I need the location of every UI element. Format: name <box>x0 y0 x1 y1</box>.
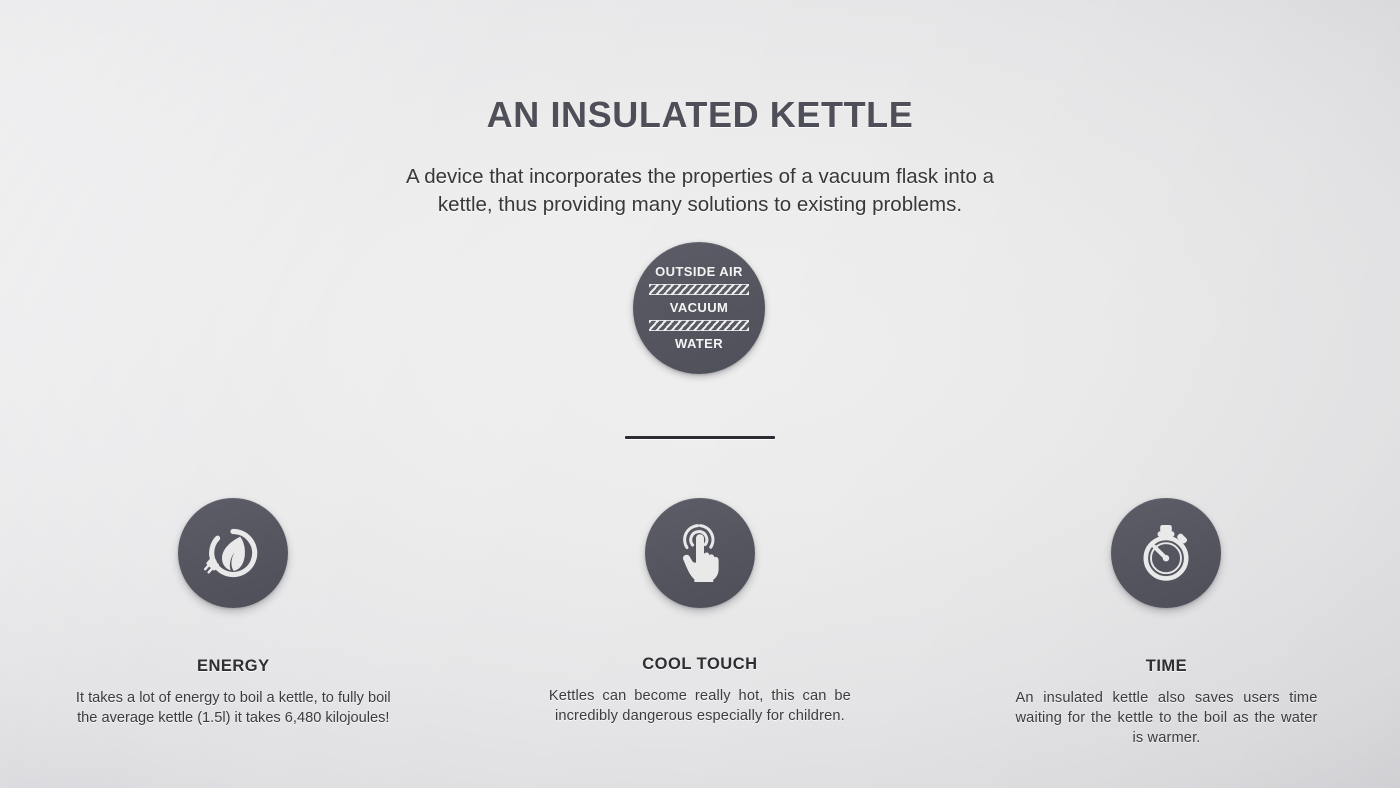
stopwatch-icon <box>1133 520 1199 586</box>
page-title: AN INSULATED KETTLE <box>0 92 1400 138</box>
cool-touch-icon-badge <box>645 498 755 608</box>
slide-canvas: AN INSULATED KETTLE A device that incorp… <box>0 0 1400 788</box>
feature-column-energy: ENERGY It takes a lot of energy to boil … <box>0 498 467 748</box>
touch-hand-icon <box>667 520 733 586</box>
section-divider <box>625 436 775 439</box>
feature-body-energy: It takes a lot of energy to boil a kettl… <box>68 688 398 728</box>
feature-column-cool-touch: COOL TOUCH Kettles can become really hot… <box>467 498 934 748</box>
vacuum-layers-circle: OUTSIDE AIR VACUUM WATER <box>633 242 765 374</box>
energy-icon-badge <box>178 498 288 608</box>
feature-column-time: TIME An insulated kettle also saves user… <box>933 498 1400 748</box>
feature-title-time: TIME <box>1146 657 1187 676</box>
vacuum-layer-label-outside-air: OUTSIDE AIR <box>655 262 743 282</box>
vacuum-layer-label-water: WATER <box>675 334 723 354</box>
feature-body-cool-touch: Kettles can become really hot, this can … <box>549 686 851 726</box>
feature-columns: ENERGY It takes a lot of energy to boil … <box>0 498 1400 748</box>
vacuum-layer-label-vacuum: VACUUM <box>670 298 729 318</box>
time-icon-badge <box>1111 498 1221 608</box>
energy-leaf-plug-icon <box>199 519 267 587</box>
feature-title-energy: ENERGY <box>197 657 270 676</box>
hatch-band-upper <box>649 284 749 295</box>
feature-body-time: An insulated kettle also saves users tim… <box>1015 688 1317 748</box>
feature-title-cool-touch: COOL TOUCH <box>642 655 757 674</box>
hatch-band-lower <box>649 320 749 331</box>
page-subtitle: A device that incorporates the propertie… <box>380 163 1020 219</box>
